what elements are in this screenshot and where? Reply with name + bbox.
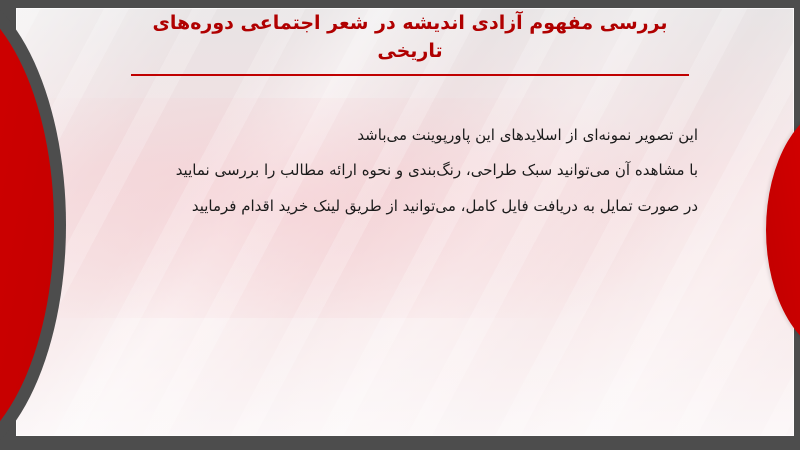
presentation-slide: بررسی مفهوم آزادی اندیشه در شعر اجتماعی … [0,0,800,450]
body-line-3: در صورت تمایل به دریافت فایل کامل، می‌تو… [110,189,698,224]
slide-title-line-2: تاریخی [120,38,700,66]
body-line-2: با مشاهده آن می‌توانید سبک طراحی، رنگ‌بن… [110,153,698,188]
title-divider-rule [131,74,689,76]
slide-body-text: این تصویر نمونه‌ای از اسلایدهای این پاور… [110,118,698,224]
body-line-1: این تصویر نمونه‌ای از اسلایدهای این پاور… [110,118,698,153]
slide-title-line-1: بررسی مفهوم آزادی اندیشه در شعر اجتماعی … [120,10,700,38]
slide-title: بررسی مفهوم آزادی اندیشه در شعر اجتماعی … [120,10,700,65]
